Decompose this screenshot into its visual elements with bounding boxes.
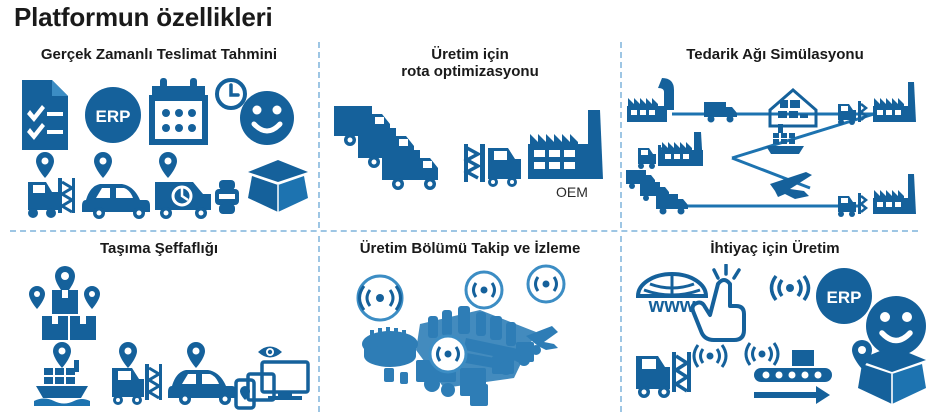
- rfid-sensor-icon: [466, 272, 502, 308]
- erp-circle-icon: ERP: [816, 268, 872, 324]
- panel-transport-transparency: Taşıma Şeffaflığı: [0, 240, 318, 415]
- arrow-right-icon: [754, 386, 830, 404]
- panel-title-route-optimization: Üretim için rota optimizasyonu: [320, 46, 620, 80]
- crate-box-icon: [70, 316, 96, 340]
- smiley-face-icon: [240, 91, 294, 145]
- panel-supply-network-simulation: Tedarik Ağı Simülasyonu: [622, 46, 928, 228]
- location-pin-icon: [84, 286, 100, 309]
- panel-art-production-tracking: [320, 264, 620, 412]
- oem-label: OEM: [556, 184, 588, 200]
- conveyor-belt-icon: [754, 350, 832, 382]
- location-pin-icon: [159, 152, 177, 178]
- svg-text:www: www: [648, 295, 696, 317]
- truck-icon: [704, 102, 737, 123]
- erp-circle-icon: ERP: [85, 87, 141, 143]
- panel-title-transport-transparency: Taşıma Şeffaflığı: [0, 240, 318, 257]
- location-pin-icon: [119, 342, 137, 368]
- factory-icon: [661, 132, 703, 166]
- pointing-hand-icon: [693, 265, 745, 340]
- location-pin-icon: [94, 152, 112, 178]
- rfid-sensor-icon: [430, 336, 466, 372]
- svg-text:ERP: ERP: [827, 288, 862, 307]
- panel-art-realtime-delivery-estimate: ERP: [0, 72, 318, 222]
- panel-title-production-on-demand: İhtiyaç için Üretim: [622, 240, 928, 257]
- location-pin-icon: [53, 342, 71, 368]
- smiley-face-icon: [866, 296, 926, 356]
- car-icon: [168, 370, 236, 405]
- panel-art-supply-network-simulation: [622, 70, 928, 222]
- rfid-wave-icon: [694, 345, 726, 367]
- panel-route-optimization: Üretim için rota optimizasyonu: [320, 46, 620, 228]
- car-icon: [82, 184, 150, 219]
- rfid-wave-icon: [772, 276, 809, 300]
- devices-monitor-tablet-phone-icon: [236, 362, 308, 408]
- infographic-root: Platformun özellikleri Gerçek Zamanlı Te…: [0, 0, 928, 415]
- calendar-icon: [152, 78, 205, 142]
- forklift-icon: [636, 352, 691, 398]
- delivery-van-icon: [155, 182, 211, 219]
- rfid-sensor-icon: [358, 276, 402, 320]
- truck-icon: [656, 194, 688, 215]
- eye-icon: [258, 347, 282, 358]
- panel-art-production-on-demand: www ERP: [622, 264, 928, 412]
- forklift-icon: [112, 364, 162, 405]
- rfid-wave-icon: [746, 343, 778, 365]
- truck-icon: [382, 150, 438, 190]
- checklist-document-icon: [22, 80, 68, 150]
- factory-icon: [873, 174, 916, 214]
- panel-production-tracking: Üretim Bölümü Takip ve İzleme: [320, 240, 620, 415]
- location-pin-icon: [187, 342, 205, 368]
- svg-text:ERP: ERP: [96, 107, 131, 126]
- clock-icon: [217, 80, 245, 108]
- factory-icon: [627, 78, 674, 122]
- rfid-sensor-icon: [528, 266, 564, 302]
- forklift-icon: [838, 193, 866, 217]
- panel-realtime-delivery-estimate: Gerçek Zamanlı Teslimat Tahmini: [0, 46, 318, 228]
- panel-title-production-tracking: Üretim Bölümü Takip ve İzleme: [320, 240, 620, 257]
- crate-box-icon: [42, 316, 68, 340]
- divider-horizontal: [10, 230, 918, 232]
- warehouse-icon: [770, 90, 816, 126]
- forklift-icon: [838, 101, 866, 125]
- panel-title-realtime-delivery-estimate: Gerçek Zamanlı Teslimat Tahmini: [0, 46, 318, 63]
- location-pin-icon: [36, 152, 54, 178]
- crate-box-icon: [52, 290, 78, 314]
- page-title: Platformun özellikleri: [14, 2, 273, 33]
- forklift-icon: [28, 178, 75, 218]
- panel-production-on-demand: İhtiyaç için Üretim www: [622, 240, 928, 415]
- panel-title-supply-network-simulation: Tedarik Ağı Simülasyonu: [622, 46, 928, 63]
- panel-art-transport-transparency: [0, 264, 318, 412]
- factory-icon: [528, 110, 603, 179]
- smartwatch-icon: [215, 180, 239, 214]
- open-box-icon: [248, 160, 308, 212]
- forklift-icon: [464, 144, 521, 187]
- location-pin-icon: [29, 286, 45, 309]
- factory-icon: [873, 82, 916, 122]
